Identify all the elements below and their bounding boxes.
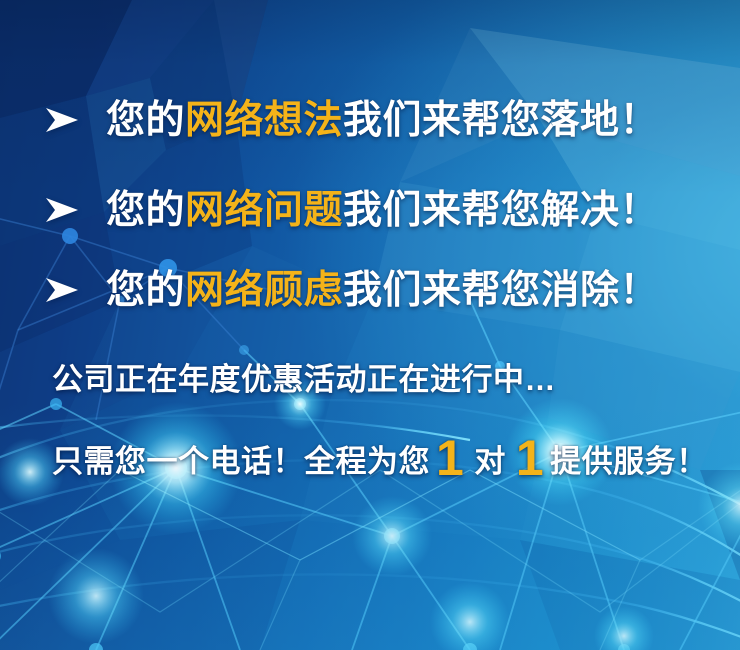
bullet-row-1: 您的网络想法我们来帮您落地！ [44,96,659,144]
tagline-promotion: 公司正在年度优惠活动正在进行中… [52,364,556,395]
bullet-text-3: 您的网络顾虑我们来帮您消除！ [106,271,659,310]
tagline-number-one-first: 1 [430,433,470,483]
bullet-tail-2: 我们来帮您解决！ [343,189,659,232]
bullet-highlight-1: 网络想法 [185,99,343,142]
bullet-row-3: 您的网络顾虑我们来帮您消除！ [44,266,659,314]
arrow-right-icon [44,105,80,135]
banner-content: 您的网络想法我们来帮您落地！ 您的网络问题我们来帮您解决！ 您的网络顾虑我们来帮… [0,0,740,650]
bullet-lead-1: 您的 [106,99,185,142]
tagline-service-part2: 提供服务！ [550,446,708,477]
arrow-right-icon [44,195,80,225]
bullet-highlight-2: 网络问题 [185,189,343,232]
bullet-tail-1: 我们来帮您落地！ [343,99,659,142]
bullet-highlight-3: 网络顾虑 [185,269,343,312]
tagline-service: 只需您一个电话！全程为您 1 对 1 提供服务！ [52,430,708,480]
bullet-text-2: 您的网络问题我们来帮您解决！ [106,191,659,230]
promo-banner: 您的网络想法我们来帮您落地！ 您的网络问题我们来帮您解决！ 您的网络顾虑我们来帮… [0,0,740,650]
bullet-row-2: 您的网络问题我们来帮您解决！ [44,186,659,234]
arrow-right-icon [44,275,80,305]
tagline-number-one-second: 1 [510,433,550,483]
bullet-text-1: 您的网络想法我们来帮您落地！ [106,101,659,140]
bullet-tail-3: 我们来帮您消除！ [343,269,659,312]
tagline-service-part1: 只需您一个电话！全程为您 [52,446,430,477]
tagline-service-middle: 对 [470,446,510,477]
bullet-lead-2: 您的 [106,189,185,232]
bullet-lead-3: 您的 [106,269,185,312]
